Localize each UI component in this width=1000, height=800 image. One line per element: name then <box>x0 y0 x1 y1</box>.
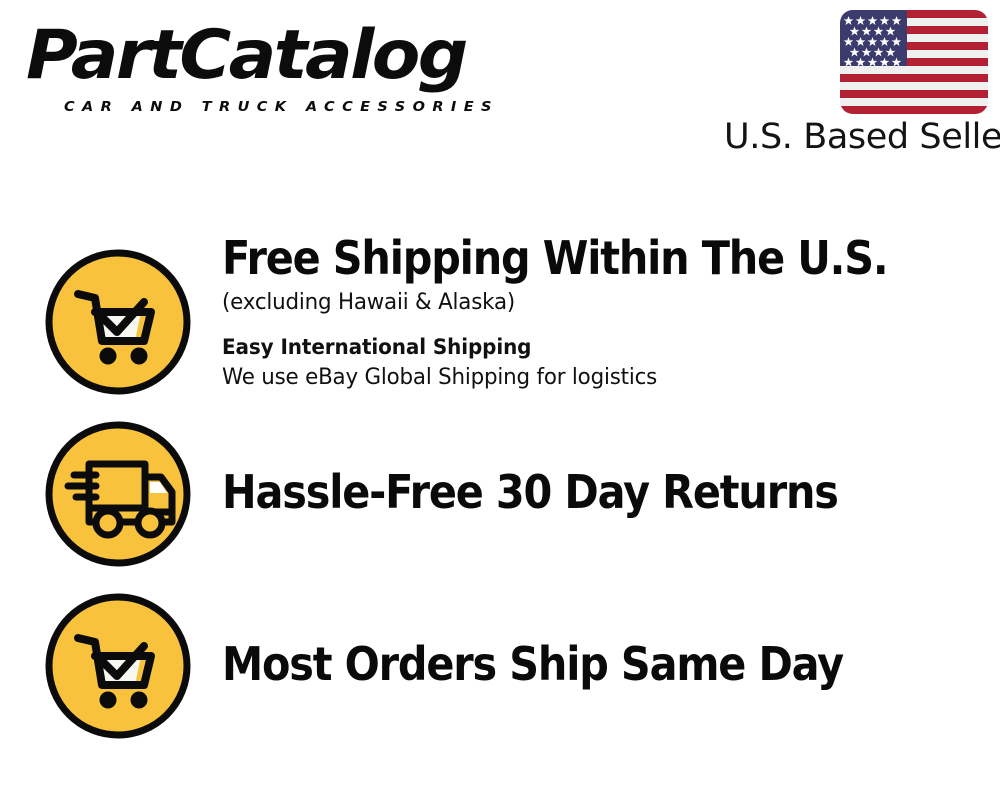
feature-text-returns: Hassle-Free 30 Day Returns <box>222 468 982 516</box>
us-based-seller-label: U.S. Based Seller <box>724 118 988 157</box>
feature-text-same-day: Most Orders Ship Same Day <box>222 640 982 688</box>
feature-subline-exclusions: (excluding Hawaii & Alaska) <box>222 288 944 316</box>
feature-headline: Free Shipping Within The U.S. <box>222 234 906 282</box>
feature-text-free-shipping: Free Shipping Within The U.S. (excluding… <box>222 234 982 391</box>
us-flag-icon <box>840 10 988 114</box>
brand-wordmark: PartCatalog <box>26 22 466 90</box>
feature-subline-logistics: We use eBay Global Shipping for logistic… <box>222 363 944 391</box>
shipping-info-banner: PartCatalog CAR AND TRUCK ACCESSORIES <box>0 0 1000 800</box>
delivery-truck-icon <box>44 420 192 568</box>
feature-headline: Most Orders Ship Same Day <box>222 640 906 688</box>
brand-logo: PartCatalog CAR AND TRUCK ACCESSORIES <box>26 22 496 117</box>
brand-tagline: CAR AND TRUCK ACCESSORIES <box>64 100 499 115</box>
cart-check-icon <box>44 248 192 396</box>
feature-headline: Hassle-Free 30 Day Returns <box>222 468 906 516</box>
cart-check-icon <box>44 592 192 740</box>
feature-subline-international: Easy International Shipping <box>222 334 944 360</box>
